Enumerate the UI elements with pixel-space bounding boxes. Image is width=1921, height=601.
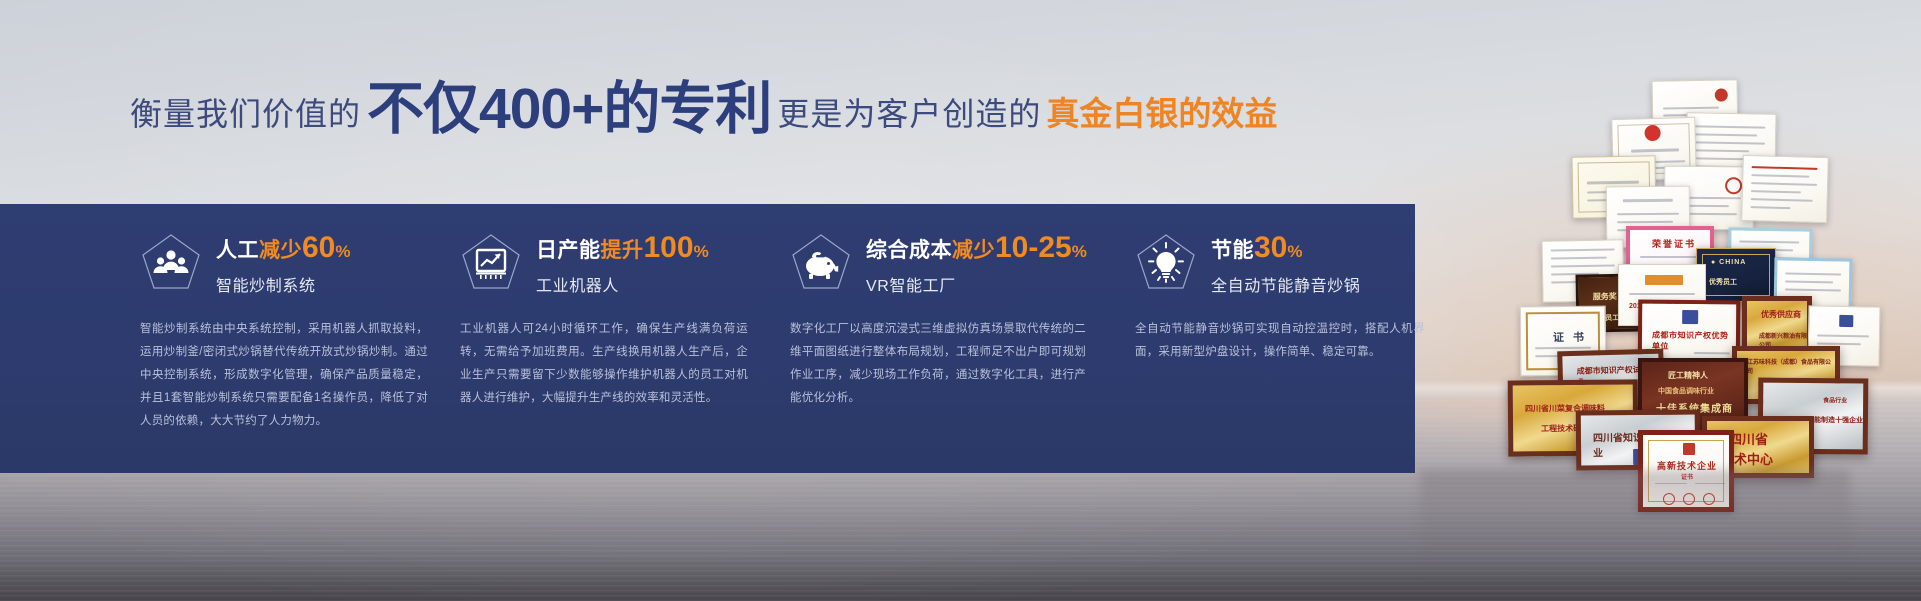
feature-description: 工业机器人可24小时循环工作，确保生产线满负荷运转，无需给予加班费用。生产线换用… [460, 318, 748, 410]
feature-stat-unit: % [694, 242, 709, 261]
feature-stat-verb: 减少 [259, 239, 302, 262]
feature-subtitle: VR智能工厂 [866, 272, 1087, 296]
lightbulb-icon [1135, 232, 1197, 294]
feature-stat-label: 节能 [1211, 239, 1254, 262]
feature-stat-verb: 减少 [952, 239, 995, 262]
people-group-icon [140, 232, 202, 294]
certificate-wall-reflection [1420, 470, 1850, 580]
feature-stat: 人工减少60% [216, 232, 351, 264]
feature-description: 智能炒制系统由中央系统控制，采用机器人抓取投料，运用炒制釜/密闭式炒锅替代传统开… [140, 318, 428, 433]
feature-card-cost: 综合成本减少10-25% VR智能工厂 数字化工厂以高度沉浸式三维虚拟仿真场景取… [790, 230, 1080, 410]
feature-stat-unit: % [1287, 242, 1302, 261]
headline-prefix: 衡量我们价值的 [130, 89, 361, 135]
feature-stat-label: 综合成本 [866, 239, 952, 262]
feature-stat: 日产能提升100% [536, 232, 709, 264]
feature-subtitle: 全自动节能静音炒锅 [1211, 272, 1360, 296]
feature-stat-unit: % [335, 242, 350, 261]
feature-stat: 节能30% [1211, 232, 1360, 264]
headline-highlight: 真金白银的效益 [1046, 87, 1277, 135]
feature-stat-number: 100 [644, 231, 694, 264]
feature-panel: 人工减少60% 智能炒制系统 智能炒制系统由中央系统控制，采用机器人抓取投料，运… [0, 204, 1415, 473]
feature-card-capacity: 日产能提升100% 工业机器人 工业机器人可24小时循环工作，确保生产线满负荷运… [460, 230, 750, 410]
banner-stage: 衡量我们价值的 不仅400+的专利 更是为客户创造的 真金白银的效益 [0, 0, 1921, 601]
page-title: 衡量我们价值的 不仅400+的专利 更是为客户创造的 真金白银的效益 [130, 78, 1277, 140]
feature-stat: 综合成本减少10-25% [866, 232, 1087, 264]
feature-subtitle: 工业机器人 [536, 272, 709, 296]
certificate-item: 优秀供应商 成都新兴粮油有限公司 [1742, 296, 1812, 352]
feature-stat-number: 30 [1254, 231, 1287, 264]
feature-stat-number: 10-25 [995, 231, 1072, 264]
certificate-item: ● CHINA 优秀员工 [1696, 248, 1776, 302]
feature-stat-number: 60 [302, 231, 335, 264]
feature-stat-unit: % [1072, 242, 1087, 261]
feature-stat-verb: 提升 [601, 239, 644, 262]
headline-middle: 更是为客户创造的 [777, 89, 1041, 135]
feature-stat-label: 日产能 [536, 239, 601, 262]
headline-emphasis: 不仅400+的专利 [367, 81, 771, 138]
feature-card-labor: 人工减少60% 智能炒制系统 智能炒制系统由中央系统控制，采用机器人抓取投料，运… [140, 230, 430, 433]
feature-stat-label: 人工 [216, 239, 259, 262]
feature-description: 数字化工厂以高度沉浸式三维虚拟仿真场景取代传统的二维平面图纸进行整体布局规划，工… [790, 318, 1086, 410]
certificate-item [1741, 155, 1829, 223]
piggy-bank-icon [790, 232, 852, 294]
chart-board-icon [460, 232, 522, 294]
feature-subtitle: 智能炒制系统 [216, 272, 351, 296]
